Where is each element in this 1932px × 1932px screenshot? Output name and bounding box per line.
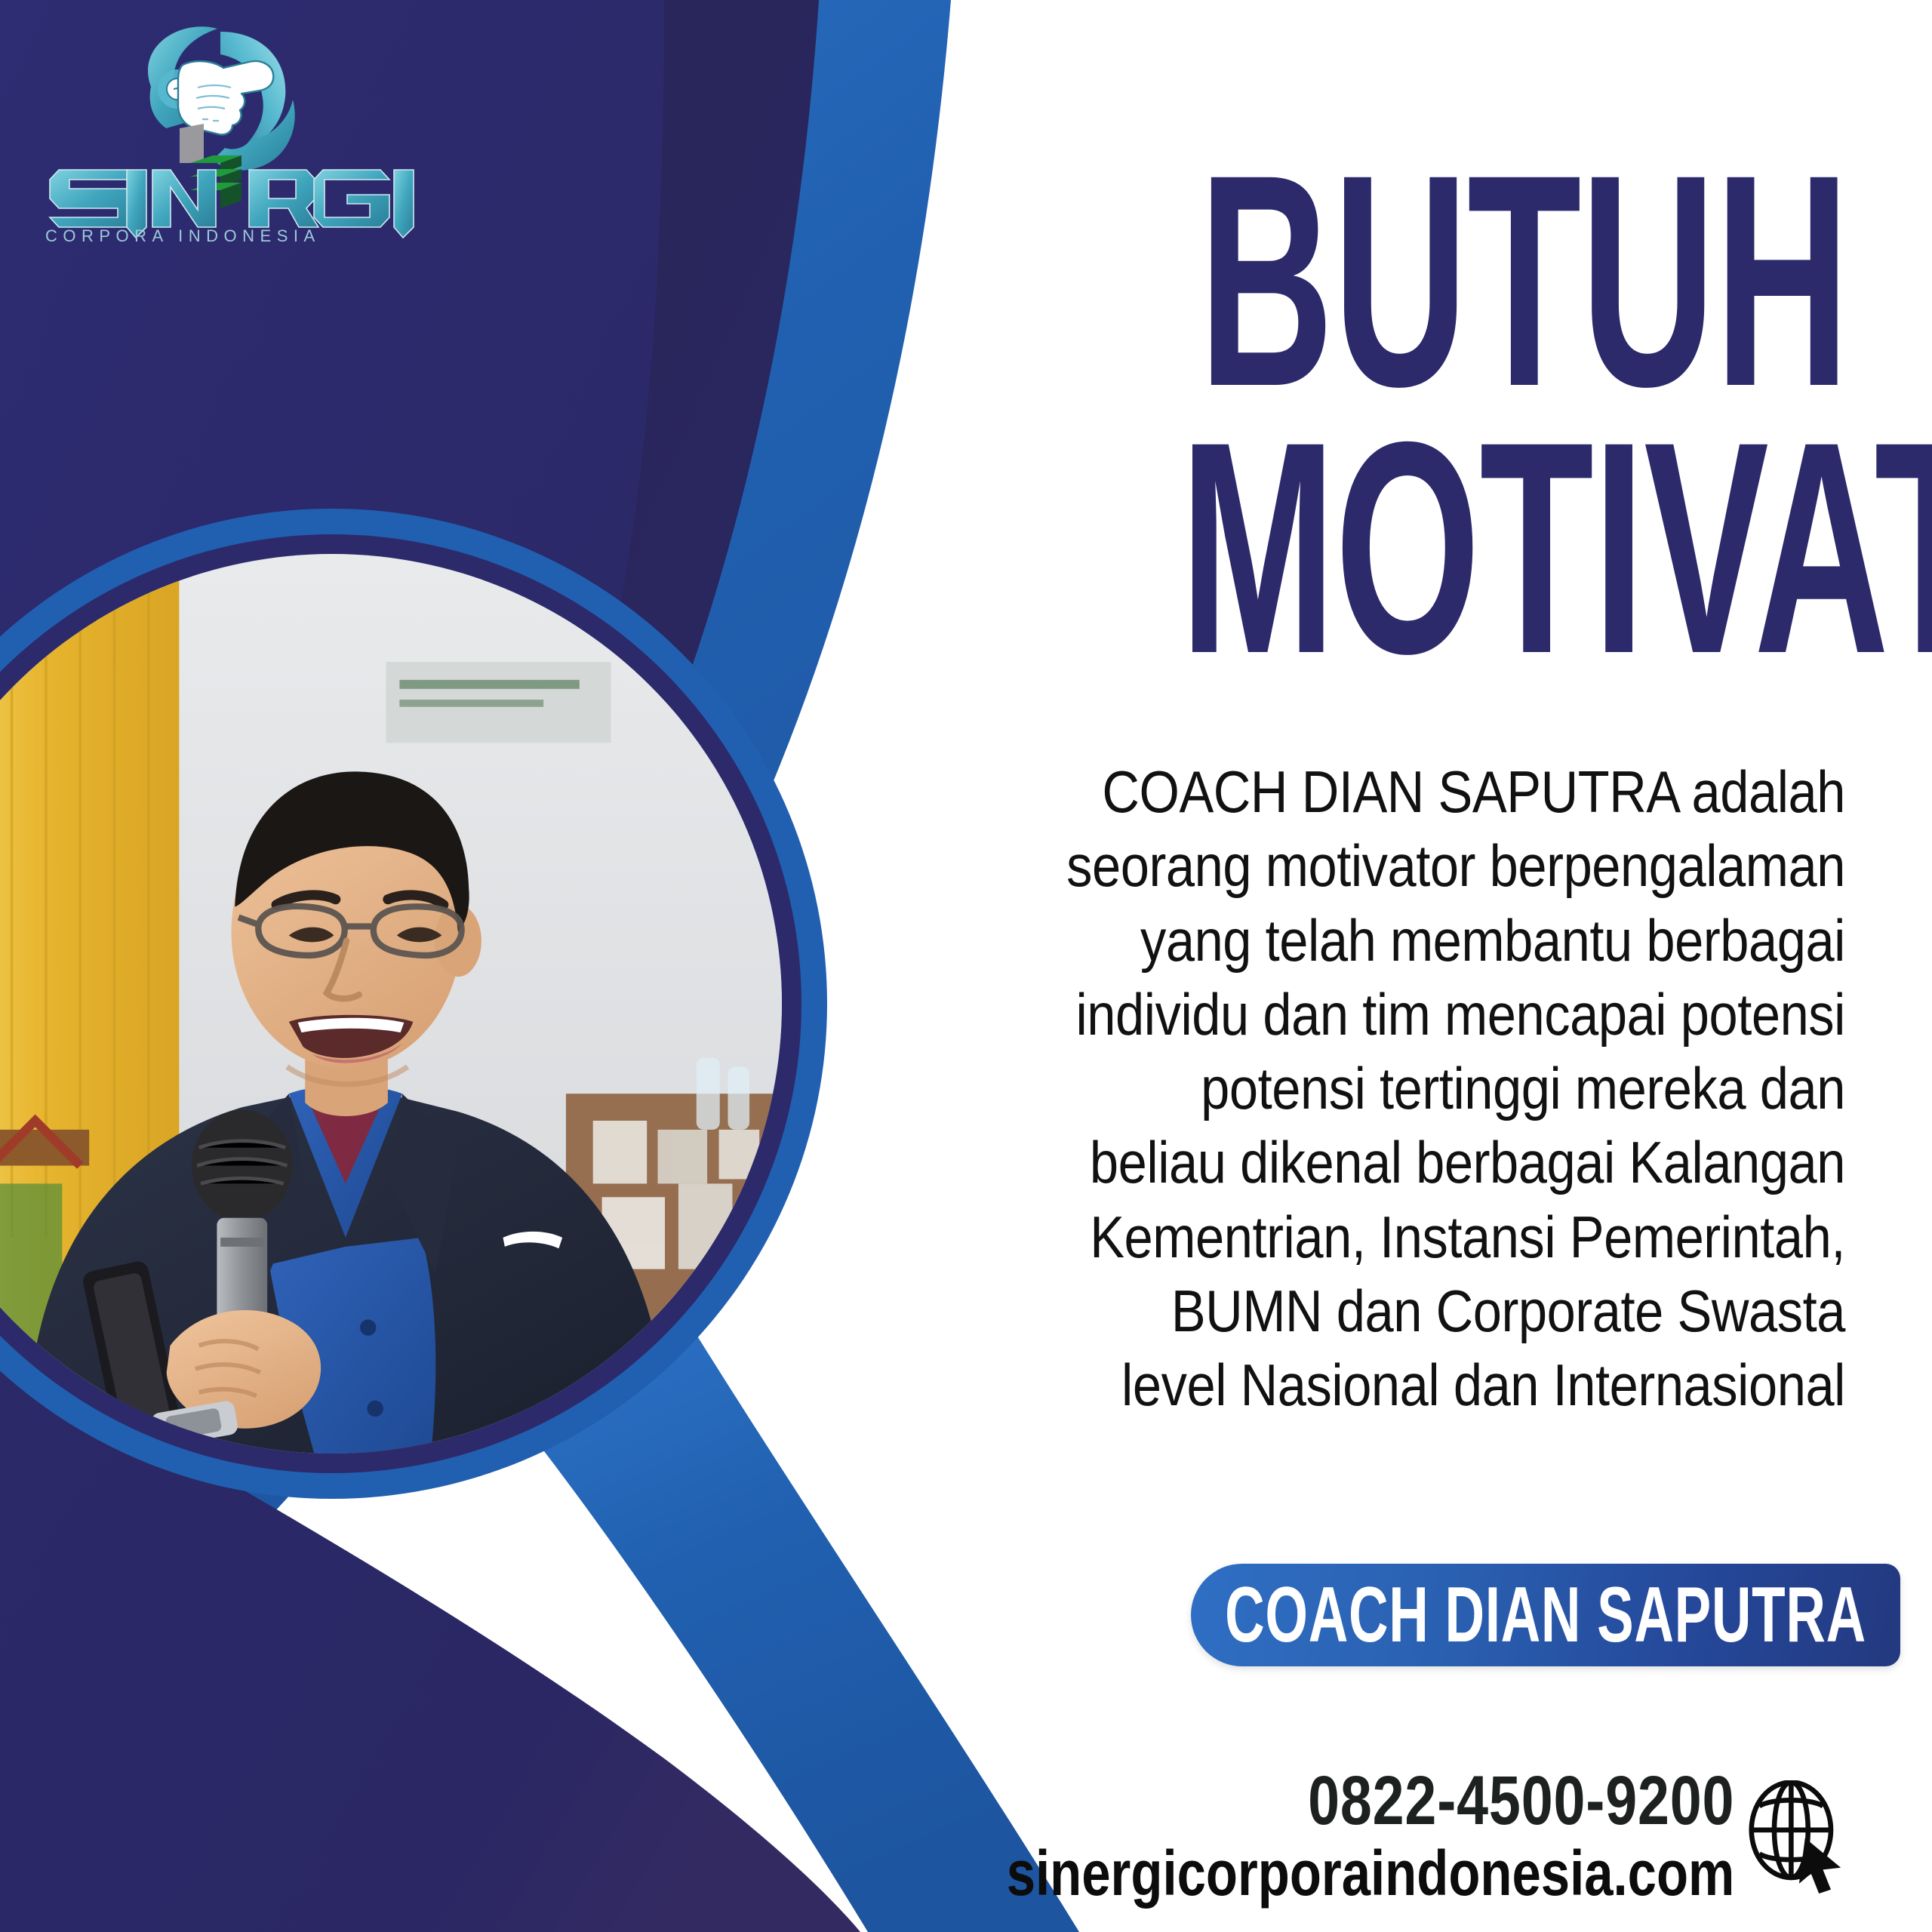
body-line: seorang motivator berpengalaman bbox=[989, 829, 1845, 903]
website-url[interactable]: sinergicorporaindonesia.com bbox=[1006, 1840, 1734, 1907]
status-badge: COACH DIAN SAPUTRA bbox=[1191, 1564, 1900, 1666]
portrait-photo bbox=[0, 521, 815, 1487]
body-line: potensi tertinggi mereka dan bbox=[989, 1051, 1845, 1125]
headline-line-1: BUTUH bbox=[1180, 151, 1849, 411]
body-line: individu dan tim mencapai potensi bbox=[989, 977, 1845, 1051]
portrait-illustration bbox=[0, 554, 782, 1454]
page-title: BUTUH MOTIVATOR? bbox=[770, 151, 1849, 678]
body-line: level Nasional dan Internasional bbox=[989, 1348, 1845, 1422]
portrait-photo-clip bbox=[0, 554, 782, 1454]
poster-canvas: CORPORA INDONESIA bbox=[0, 0, 1932, 1932]
body-line: yang telah membantu berbagai bbox=[989, 903, 1845, 977]
globe-cursor-icon bbox=[1743, 1780, 1843, 1894]
logo-tagline: CORPORA INDONESIA bbox=[45, 226, 321, 241]
phone-number[interactable]: 0822-4500-9200 bbox=[1006, 1766, 1734, 1835]
body-line: BUMN dan Corporate Swasta bbox=[989, 1274, 1845, 1348]
company-logo: CORPORA INDONESIA bbox=[23, 15, 415, 241]
body-line: beliau dikenal berbagai Kalangan bbox=[989, 1125, 1845, 1199]
body-line: COACH DIAN SAPUTRA adalah bbox=[989, 755, 1845, 829]
handshake-icon bbox=[148, 26, 295, 170]
contact-block: 0822-4500-9200 sinergicorporaindonesia.c… bbox=[847, 1766, 1843, 1907]
headline-line-2: MOTIVATOR? bbox=[1180, 418, 1849, 678]
contact-text: 0822-4500-9200 sinergicorporaindonesia.c… bbox=[847, 1766, 1734, 1907]
body-paragraph: COACH DIAN SAPUTRA adalah seorang motiva… bbox=[872, 755, 1845, 1422]
coach-name-label: COACH DIAN SAPUTRA bbox=[1225, 1571, 1866, 1660]
body-line: Kementrian, Instansi Pemerintah, bbox=[989, 1200, 1845, 1274]
logo-svg: CORPORA INDONESIA bbox=[23, 15, 415, 241]
